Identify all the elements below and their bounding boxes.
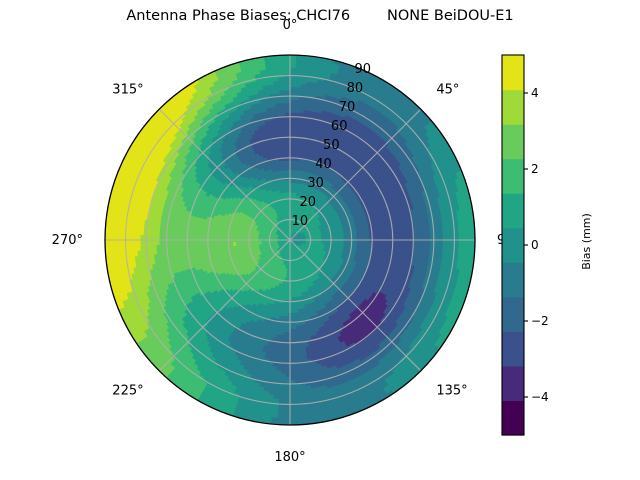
azimuth-tick-label: 225° bbox=[112, 383, 143, 398]
colorbar-tick-label: 4 bbox=[531, 86, 539, 100]
figure-canvas: Antenna Phase Biases: CHCI76 NONE BeiDOU… bbox=[0, 0, 640, 480]
colorbar-tick-label: 2 bbox=[531, 162, 539, 176]
azimuth-tick-label: 45° bbox=[436, 83, 459, 98]
radial-tick-label: 80 bbox=[347, 81, 364, 96]
radial-tick-label: 40 bbox=[315, 157, 332, 172]
azimuth-tick-label: 315° bbox=[112, 83, 143, 98]
colorbar-band bbox=[502, 228, 524, 263]
figure-title: Antenna Phase Biases: CHCI76 NONE BeiDOU… bbox=[0, 8, 640, 24]
colorbar-band bbox=[502, 159, 524, 194]
radial-tick-label: 20 bbox=[299, 195, 316, 210]
polar-grid bbox=[105, 55, 475, 425]
colorbar-band bbox=[502, 366, 524, 401]
colorbar-axis-label: Bias (mm) bbox=[580, 213, 593, 270]
colorbar-tick-label: 0 bbox=[531, 238, 539, 252]
radial-tick-label: 50 bbox=[323, 138, 340, 153]
azimuth-tick-label: 180° bbox=[274, 450, 305, 465]
colorbar-band bbox=[502, 90, 524, 125]
azimuth-tick-label: 270° bbox=[52, 233, 83, 248]
polar-contour-plot: 0°45°90135°180°225°270°315° 102030405060… bbox=[0, 0, 640, 480]
colorbar-tick-label: −4 bbox=[531, 390, 549, 404]
colorbar-band bbox=[502, 262, 524, 297]
colorbar-band bbox=[502, 55, 524, 90]
colorbar: −4−2024 bbox=[502, 55, 549, 436]
radial-tick-label: 60 bbox=[331, 119, 348, 134]
radial-tick-label: 90 bbox=[355, 62, 372, 77]
colorbar-band bbox=[502, 331, 524, 366]
radial-tick-label: 30 bbox=[307, 176, 324, 191]
colorbar-band bbox=[502, 400, 524, 435]
colorbar-tick-label: −2 bbox=[531, 314, 549, 328]
colorbar-band bbox=[502, 193, 524, 228]
radial-tick-label: 70 bbox=[339, 100, 356, 115]
colorbar-band bbox=[502, 297, 524, 332]
azimuth-tick-label: 135° bbox=[436, 383, 467, 398]
colorbar-band bbox=[502, 124, 524, 159]
radial-tick-label: 10 bbox=[292, 214, 309, 229]
